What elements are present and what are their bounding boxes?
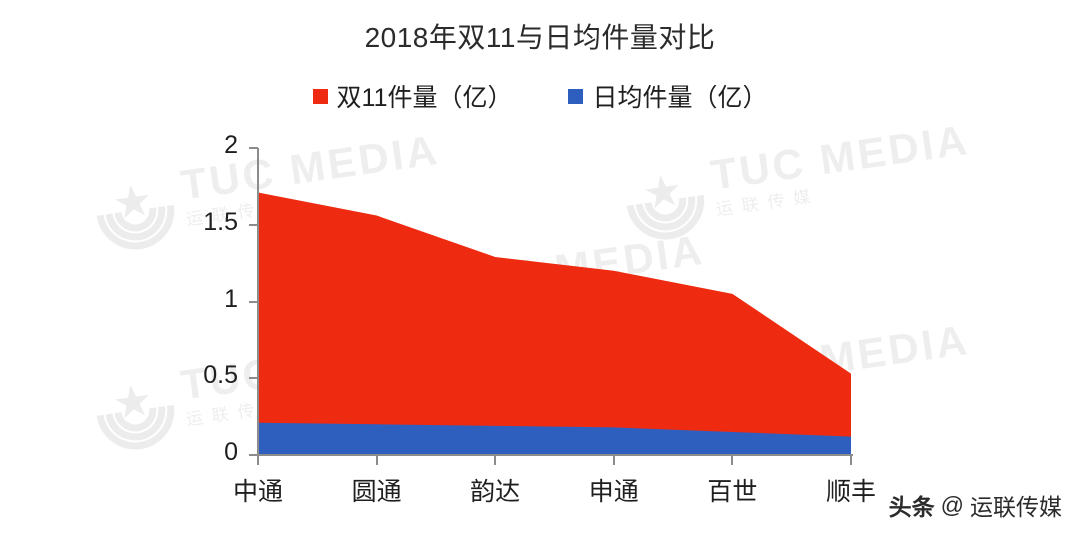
- y-axis-tick-label: 1.5: [178, 208, 238, 237]
- attribution-account: 运联传媒: [970, 488, 1062, 522]
- y-axis-tick-label: 2: [178, 131, 238, 160]
- x-axis-tick: [257, 455, 259, 465]
- chart-legend: 双11件量（亿） 日均件量（亿）: [0, 78, 1080, 114]
- y-axis-tick-label: 0: [178, 438, 238, 467]
- chart-container: 2018年双11与日均件量对比 双11件量（亿） 日均件量（亿） 00.511.…: [0, 0, 1080, 534]
- legend-label-daily-average: 日均件量（亿）: [592, 78, 767, 114]
- stacked-area-svg: [258, 148, 851, 455]
- chart-title: 2018年双11与日均件量对比: [0, 16, 1080, 56]
- y-axis-tick-label: 1: [178, 285, 238, 314]
- x-axis-tick-label: 申通: [554, 472, 674, 508]
- x-axis-tick: [850, 455, 852, 465]
- y-axis-tick: [249, 301, 258, 303]
- legend-label-shuang11: 双11件量（亿）: [337, 78, 513, 114]
- x-axis-tick: [731, 455, 733, 465]
- legend-swatch-shuang11: [313, 89, 328, 104]
- x-axis-tick-label: 百世: [672, 472, 792, 508]
- y-axis-tick: [249, 224, 258, 226]
- y-axis-tick: [249, 377, 258, 379]
- y-axis-tick-label: 0.5: [178, 361, 238, 390]
- x-axis-line: [251, 454, 853, 456]
- legend-swatch-daily-average: [568, 89, 583, 104]
- x-axis-tick: [494, 455, 496, 465]
- x-axis-tick: [613, 455, 615, 465]
- plot-area: [258, 148, 851, 455]
- x-axis-tick-label: 中通: [198, 472, 318, 508]
- attribution-at-sign: @: [941, 492, 964, 519]
- x-axis-tick: [376, 455, 378, 465]
- attribution-platform: 头条: [889, 488, 935, 522]
- attribution: 头条 @ 运联传媒: [889, 488, 1062, 522]
- y-axis-tick: [249, 147, 258, 149]
- x-axis-tick-label: 韵达: [435, 472, 555, 508]
- x-axis-tick-label: 圆通: [317, 472, 437, 508]
- area-series-shuang11: [258, 193, 851, 455]
- legend-item-daily-average: 日均件量（亿）: [568, 78, 767, 114]
- legend-item-shuang11: 双11件量（亿）: [313, 78, 513, 114]
